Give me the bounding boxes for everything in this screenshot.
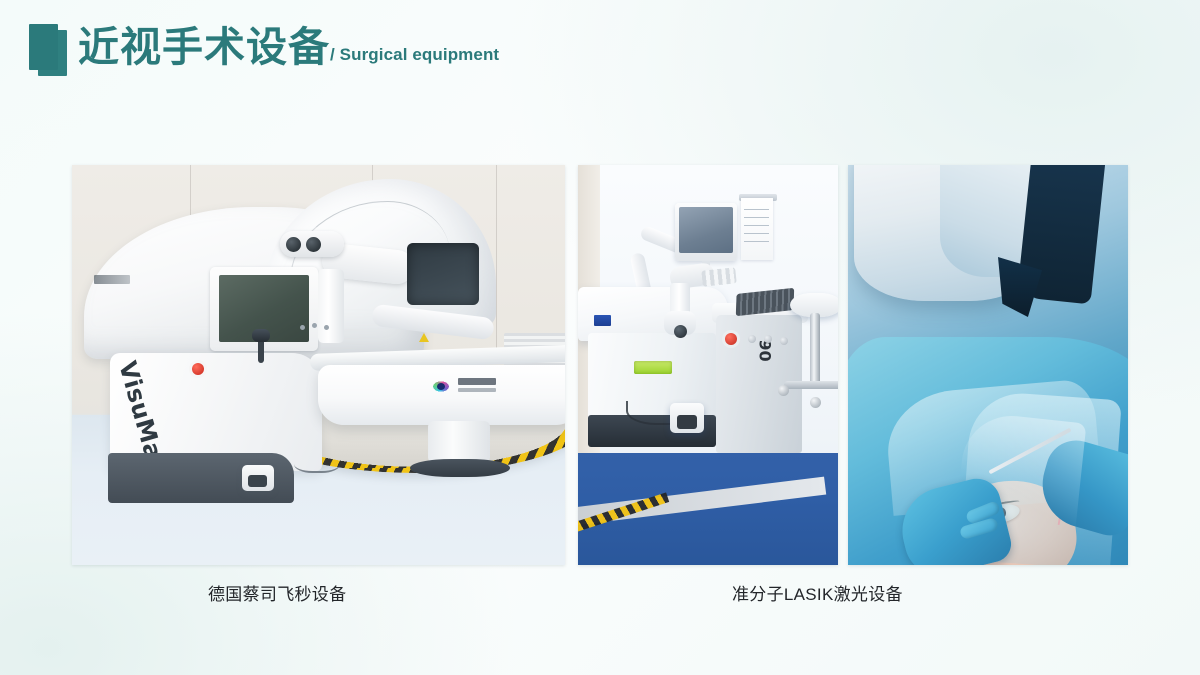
eye-logo-text-en [458, 388, 496, 392]
eye-logo-pupil [437, 383, 445, 390]
chart-text-line [744, 217, 769, 218]
control-knob[interactable] [780, 337, 788, 345]
control-indicator [300, 325, 305, 330]
emergency-stop-button[interactable] [192, 363, 204, 375]
stool-caster [810, 397, 821, 408]
page-title: 近视手术设备 / Surgical equipment [78, 22, 499, 72]
stool-caster [778, 385, 789, 396]
floor-cable [294, 451, 340, 473]
light-sheen [954, 411, 1087, 553]
photo-zeiss-visumax[interactable]: VisuMax [72, 165, 565, 565]
stool-base [784, 381, 838, 389]
monitor-screen[interactable] [679, 207, 733, 253]
microscope-eyepiece-left [286, 237, 301, 252]
control-knob[interactable] [748, 335, 756, 343]
microscope-column [318, 269, 344, 343]
control-indicator [312, 323, 317, 328]
bed-pedestal-base [410, 459, 510, 477]
device-model-marking: 90 [756, 339, 775, 361]
microscope-eyepiece-right [306, 237, 321, 252]
photo-captions: 德国蔡司飞秒设备 准分子LASIK激光设备 [72, 583, 1128, 613]
stool-post [810, 313, 820, 385]
foot-pedal-plate [677, 415, 697, 429]
treatment-port [407, 243, 479, 305]
chart-text-line [744, 209, 769, 210]
chart-text-line [744, 225, 769, 226]
control-knob[interactable] [764, 335, 772, 343]
page-title-chinese: 近视手术设备 [78, 22, 330, 72]
photo-gallery: VisuMax [72, 165, 1128, 565]
warning-triangle-icon [419, 333, 429, 342]
joystick-knob[interactable] [252, 329, 270, 342]
slide-header: 近视手术设备 / Surgical equipment [0, 0, 1200, 110]
chart-text-line [744, 233, 769, 234]
photo-excimer-laser[interactable]: 90 [578, 165, 838, 565]
eye-logo-text-cn [458, 378, 496, 385]
page-title-english: / Surgical equipment [330, 43, 499, 72]
microscope-lens [674, 325, 687, 338]
photo-lasik-surgery[interactable] [848, 165, 1128, 565]
wall-chart [741, 198, 773, 260]
zeiss-logo-icon [594, 315, 611, 326]
bed-pedestal [428, 421, 490, 463]
emergency-stop-button[interactable] [725, 333, 737, 345]
zeiss-nameplate [94, 275, 130, 284]
caption-zeiss: 德国蔡司飞秒设备 [208, 583, 346, 607]
chart-text-line [744, 241, 769, 242]
foot-pedal-plate [248, 475, 267, 487]
stacked-bars-icon-front [29, 24, 58, 70]
caption-excimer: 准分子LASIK激光设备 [732, 583, 903, 607]
stacked-bars-icon [29, 24, 69, 76]
status-indicator-panel [634, 361, 672, 374]
hospital-eye-logo [428, 377, 498, 397]
control-indicator [324, 325, 329, 330]
